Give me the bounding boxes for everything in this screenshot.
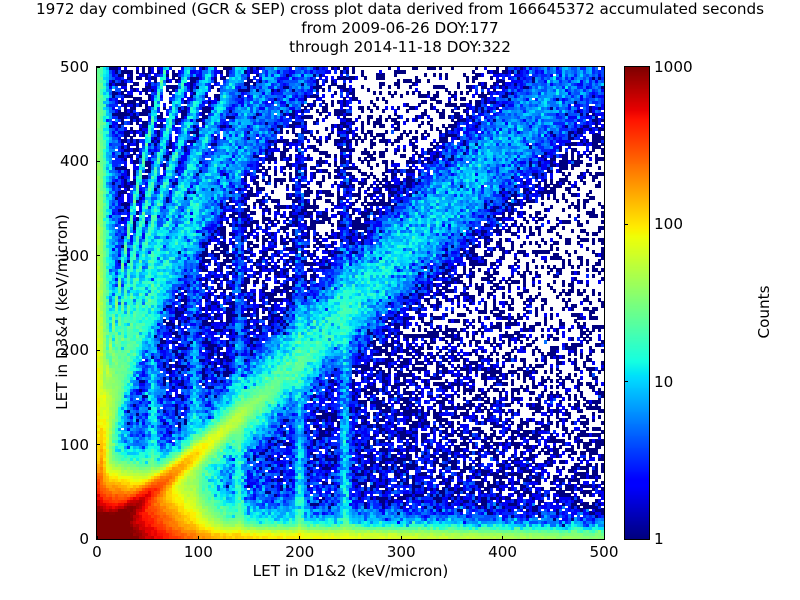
title-line-3: through 2014-11-18 DOY:322	[0, 38, 800, 57]
x-axis-label: LET in D1&2 (keV/micron)	[96, 562, 605, 580]
x-tick-label: 0	[92, 543, 102, 561]
colorbar-label: Counts	[755, 162, 773, 462]
chart-title: 1972 day combined (GCR & SEP) cross plot…	[0, 0, 800, 57]
y-tick-mark	[96, 67, 100, 68]
y-tick-mark	[96, 255, 100, 256]
colorbar-tick-label: 1	[654, 530, 664, 548]
colorbar-tick-label: 1000	[654, 58, 693, 76]
y-tick-label: 0	[34, 530, 89, 548]
figure: 1972 day combined (GCR & SEP) cross plot…	[0, 0, 800, 600]
y-tick-mark	[96, 350, 100, 351]
x-tick-label: 500	[590, 543, 619, 561]
x-tick-mark	[604, 536, 605, 540]
title-line-1: 1972 day combined (GCR & SEP) cross plot…	[0, 0, 800, 19]
y-tick-label: 500	[34, 58, 89, 76]
colorbar-tick-label: 100	[654, 215, 683, 233]
y-tick-mark	[96, 161, 100, 162]
x-tick-label: 400	[488, 543, 517, 561]
x-tick-label: 200	[285, 543, 314, 561]
density-heatmap[interactable]	[97, 67, 604, 539]
y-tick-mark	[96, 444, 100, 445]
colorbar-tick-label: 10	[654, 373, 673, 391]
x-tick-mark	[299, 536, 300, 540]
x-tick-label: 300	[387, 543, 416, 561]
y-axis-label: LET in D3&4 (keV/micron)	[53, 162, 71, 462]
colorbar[interactable]	[624, 66, 650, 540]
x-tick-mark	[502, 536, 503, 540]
x-tick-mark	[198, 536, 199, 540]
x-tick-label: 100	[184, 543, 213, 561]
x-tick-mark	[401, 536, 402, 540]
y-tick-mark	[96, 539, 100, 540]
plot-area[interactable]	[96, 66, 605, 540]
colorbar-gradient	[625, 67, 649, 539]
colorbar-tick-mark	[624, 224, 628, 225]
title-line-2: from 2009-06-26 DOY:177	[0, 19, 800, 38]
colorbar-tick-mark	[624, 381, 628, 382]
